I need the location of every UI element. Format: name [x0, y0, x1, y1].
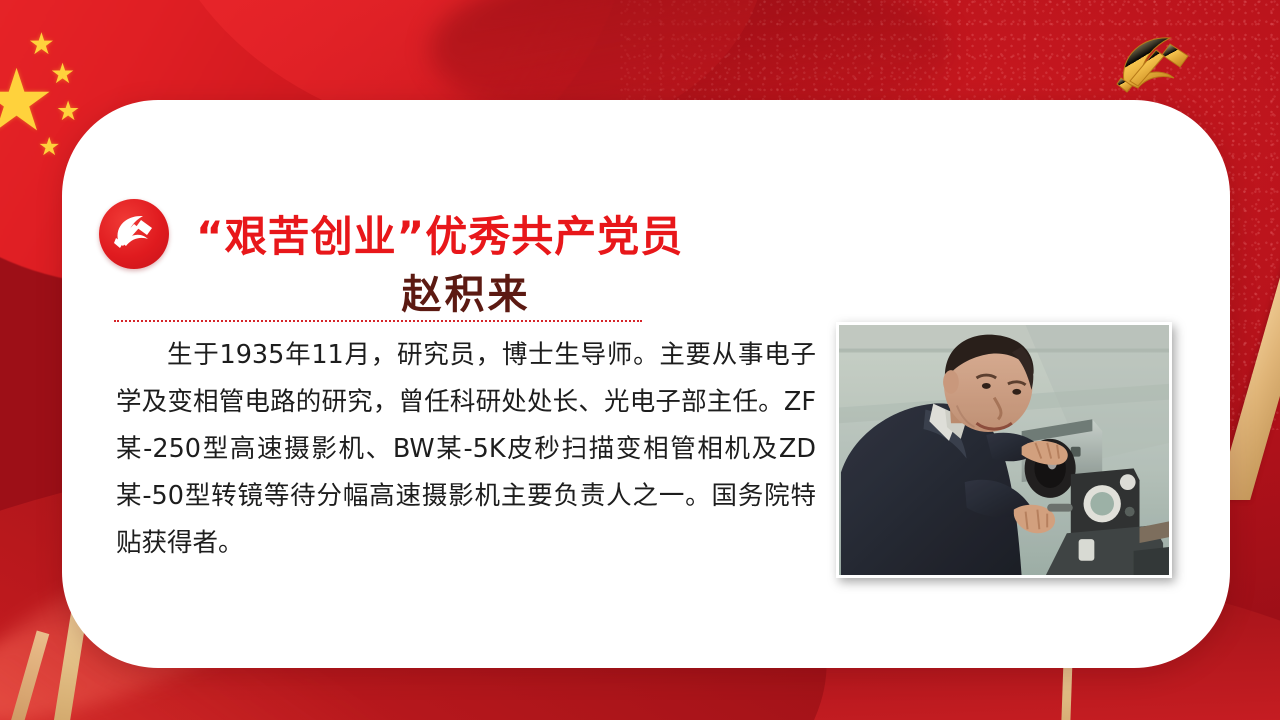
- star-icon: ★: [0, 58, 55, 144]
- star-icon: ★: [50, 60, 75, 88]
- slide-root: ★ ★ ★ ★ ★: [0, 0, 1280, 720]
- biography-paragraph: 生于1935年11月，研究员，博士生导师。主要从事电子学及变相管电路的研究，曾任…: [116, 332, 816, 567]
- star-icon: ★: [56, 98, 80, 125]
- star-icon: ★: [38, 135, 60, 160]
- person-name: 赵积来: [196, 262, 736, 320]
- star-icon: ★: [28, 30, 55, 60]
- hammer-sickle-emblem-icon: [1108, 26, 1208, 100]
- party-badge-icon: [99, 199, 169, 269]
- page-title: “艰苦创业”优秀共产党员: [196, 203, 736, 264]
- portrait-photo: [836, 322, 1172, 578]
- dotted-divider: [114, 320, 642, 322]
